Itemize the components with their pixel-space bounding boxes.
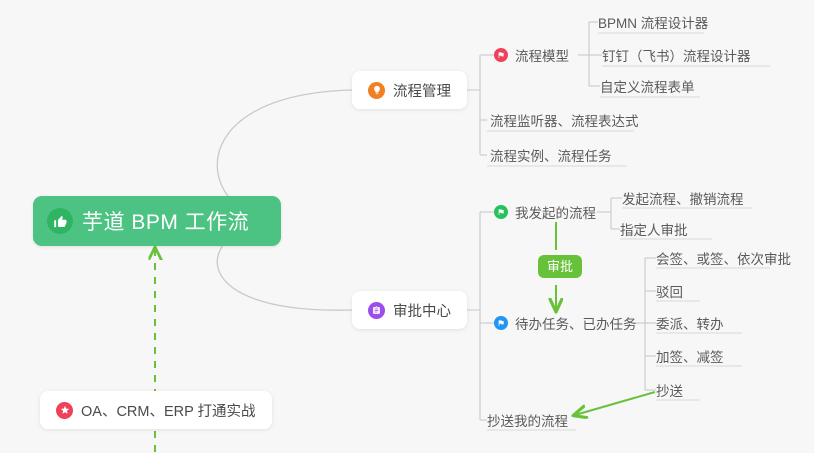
clipboard-icon xyxy=(368,302,385,319)
branch-process-management[interactable]: 流程管理 xyxy=(352,71,467,109)
node-label: 我发起的流程 xyxy=(515,202,596,222)
node-label: 加签、减签 xyxy=(656,346,724,366)
root-label: 芋道 BPM 工作流 xyxy=(82,206,249,236)
node-delegate-transfer[interactable]: 委派、转办 xyxy=(656,312,724,334)
branch-label: 流程管理 xyxy=(393,80,451,101)
floating-node-label: OA、CRM、ERP 打通实战 xyxy=(81,400,256,421)
node-label: 流程模型 xyxy=(515,45,569,65)
branch-label: 审批中心 xyxy=(393,300,451,321)
lightbulb-icon xyxy=(368,82,385,99)
star-icon xyxy=(56,402,73,419)
node-process-listener[interactable]: 流程监听器、流程表达式 xyxy=(490,109,639,131)
mindmap-canvas: 芋道 BPM 工作流 流程管理 流程模型 BPMN 流程设计器 钉钉（飞书）流程… xyxy=(0,0,814,453)
node-label: 抄送 xyxy=(656,380,683,400)
flag-red-icon xyxy=(494,48,508,62)
node-start-cancel-process[interactable]: 发起流程、撤销流程 xyxy=(622,187,744,209)
node-reject[interactable]: 驳回 xyxy=(656,280,683,302)
node-process-model[interactable]: 流程模型 xyxy=(494,44,569,66)
thumbs-up-icon xyxy=(47,208,73,234)
node-countersign[interactable]: 会签、或签、依次审批 xyxy=(656,247,791,269)
node-cc[interactable]: 抄送 xyxy=(656,379,683,401)
node-todo-done-tasks[interactable]: 待办任务、已办任务 xyxy=(494,312,637,334)
node-label: 自定义流程表单 xyxy=(600,76,695,96)
annotation-label: 审批 xyxy=(547,259,573,274)
node-label: 委派、转办 xyxy=(656,313,724,333)
node-label: 会签、或签、依次审批 xyxy=(656,248,791,268)
node-label: 抄送我的流程 xyxy=(487,410,568,430)
flag-blue-icon xyxy=(494,316,508,330)
node-label: 驳回 xyxy=(656,281,683,301)
node-label: 流程实例、流程任务 xyxy=(490,145,612,165)
node-cc-to-me[interactable]: 抄送我的流程 xyxy=(487,409,568,431)
node-custom-form[interactable]: 自定义流程表单 xyxy=(600,75,695,97)
annotation-badge-approve: 审批 xyxy=(538,255,582,278)
node-label: 发起流程、撤销流程 xyxy=(622,188,744,208)
node-label: 钉钉（飞书）流程设计器 xyxy=(602,45,751,65)
node-my-initiated[interactable]: 我发起的流程 xyxy=(494,201,596,223)
node-label: 指定人审批 xyxy=(620,219,688,239)
node-bpmn-designer[interactable]: BPMN 流程设计器 xyxy=(598,11,708,33)
node-assignee-approval[interactable]: 指定人审批 xyxy=(620,218,688,240)
node-add-remove-sign[interactable]: 加签、减签 xyxy=(656,345,724,367)
root-node[interactable]: 芋道 BPM 工作流 xyxy=(33,196,281,246)
node-dingtalk-feishu-designer[interactable]: 钉钉（飞书）流程设计器 xyxy=(602,44,751,66)
floating-node-oa-crm-erp[interactable]: OA、CRM、ERP 打通实战 xyxy=(40,391,272,429)
flag-green-icon xyxy=(494,205,508,219)
node-label: 流程监听器、流程表达式 xyxy=(490,110,639,130)
branch-approval-center[interactable]: 审批中心 xyxy=(352,291,467,329)
node-label: 待办任务、已办任务 xyxy=(515,313,637,333)
node-label: BPMN 流程设计器 xyxy=(598,12,708,32)
node-process-instance[interactable]: 流程实例、流程任务 xyxy=(490,144,612,166)
